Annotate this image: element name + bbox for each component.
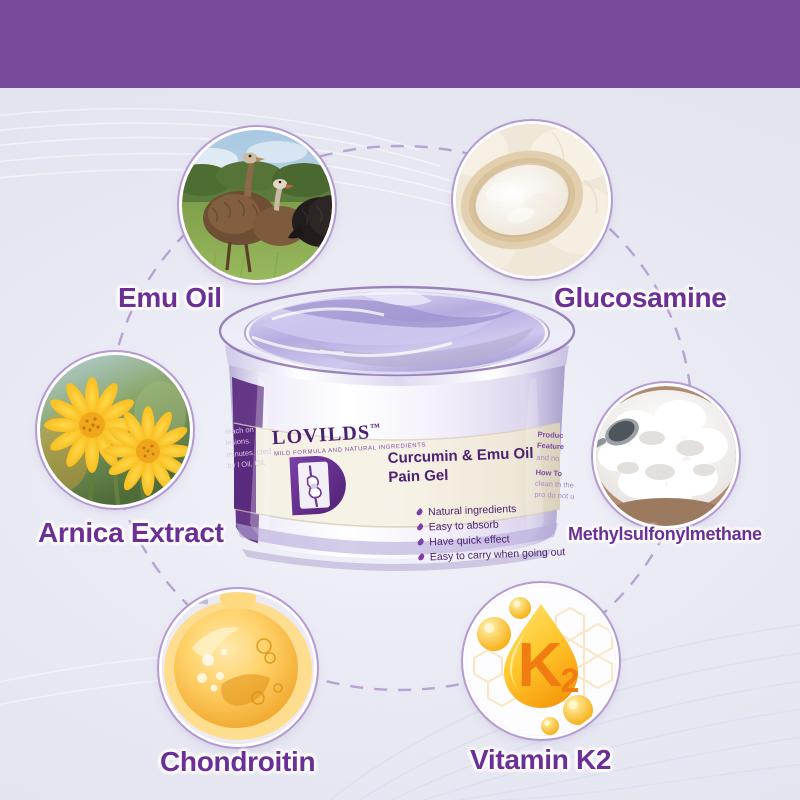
panel-body-howto: clean th the pro do not u — [534, 478, 583, 503]
caption-methylsulfonylmethane: Methylsulfonylmethane — [568, 524, 762, 545]
jar-right-panel-text: Produc Feature and no How To clean th th… — [534, 429, 586, 503]
ingredient-image-methylsulfonylmethane[interactable] — [596, 386, 736, 526]
caption-emu-oil: Emu Oil — [118, 282, 222, 314]
ingredient-image-emu-oil[interactable] — [182, 130, 332, 280]
white-powder-wooden-bowl-photo — [456, 124, 608, 276]
k2-letter: K — [518, 631, 563, 700]
white-crystal-powder-spoon-photo — [596, 386, 736, 526]
caption-vitamin-k2: Vitamin K2 — [470, 744, 611, 776]
yellow-arnica-flowers-photo — [40, 355, 190, 505]
k2-subscript: 2 — [561, 662, 580, 700]
golden-k2-droplet-honeycomb: K 2 — [466, 586, 616, 736]
ingredient-image-arnica-extract[interactable] — [40, 355, 190, 505]
caption-chondroitin: Chondroitin — [160, 746, 315, 778]
product-infographic-poster: Emu Oil — [0, 0, 800, 800]
caption-glucosamine: Glucosamine — [554, 282, 727, 314]
product-name: Curcumin & Emu Oil Pain Gel — [387, 443, 558, 487]
ingredient-image-glucosamine[interactable] — [456, 124, 608, 276]
header-banner — [0, 0, 800, 88]
jar-left-panel-text: reach on lesions. minutes. cted by l Oil… — [224, 422, 280, 471]
caption-arnica-extract: Arnica Extract — [38, 517, 224, 549]
panel-body-features: and no — [536, 451, 585, 465]
amber-gel-droplet-photo — [162, 592, 314, 744]
ostrich-emu-birds-photo — [182, 130, 332, 280]
ingredient-image-chondroitin[interactable] — [162, 592, 314, 744]
knee-joint-emblem — [285, 450, 349, 524]
ingredient-image-vitamin-k2[interactable]: K 2 — [466, 586, 616, 736]
